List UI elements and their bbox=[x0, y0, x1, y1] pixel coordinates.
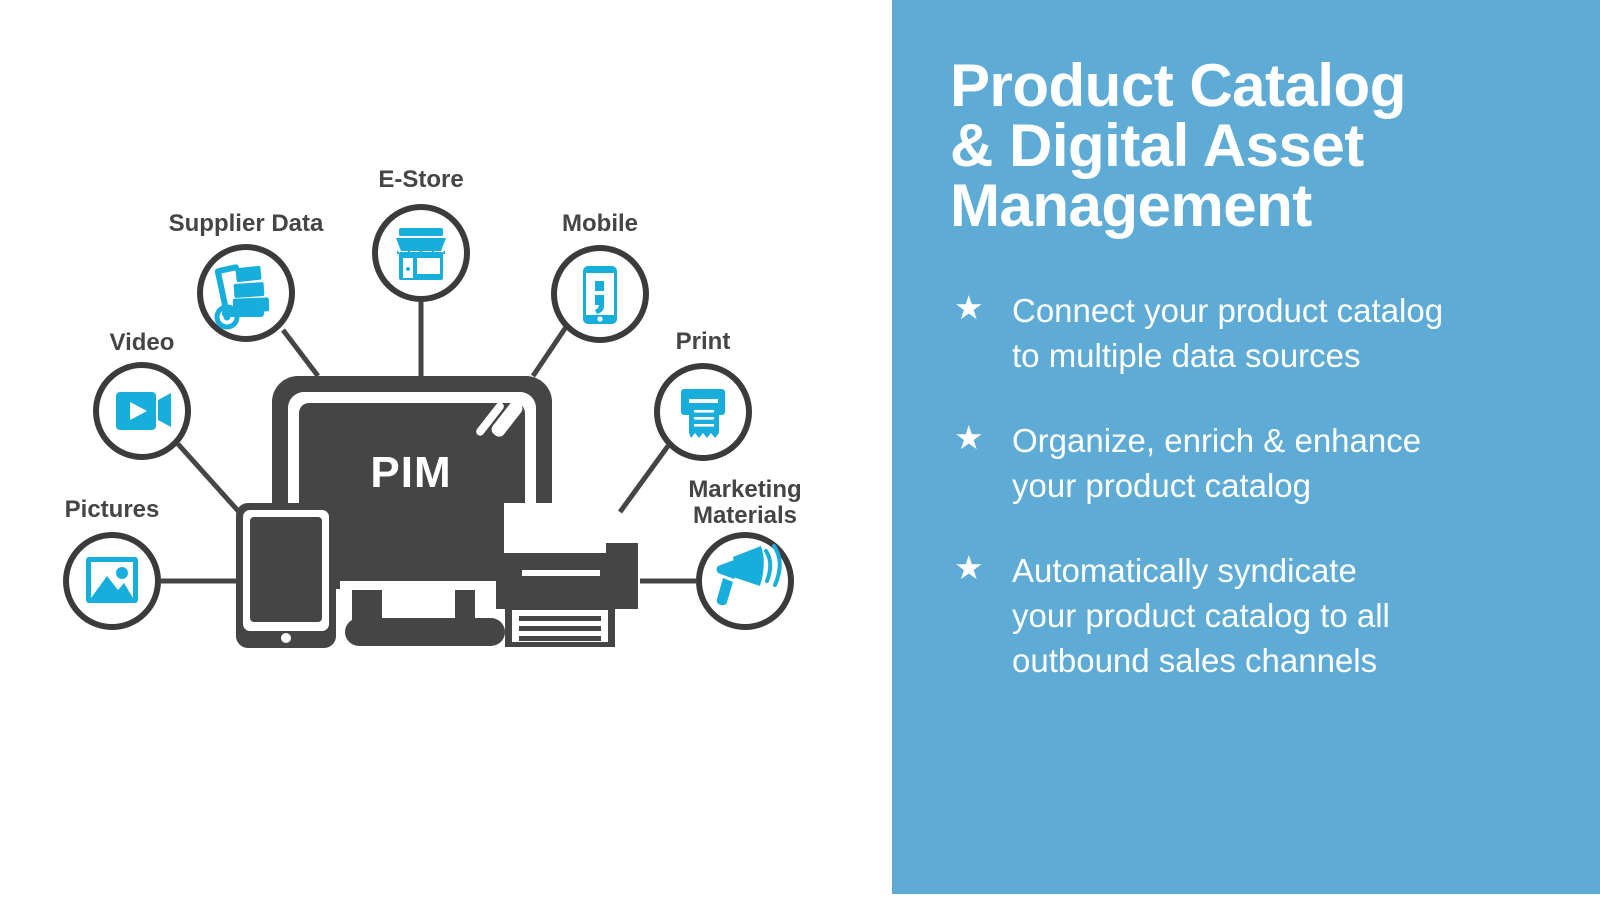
smartphone-icon bbox=[583, 266, 617, 324]
pim-center-label: PIM bbox=[370, 448, 451, 497]
printer-paper-sheet bbox=[504, 503, 612, 559]
node-label-print: Print bbox=[676, 328, 731, 355]
page-title: Product Catalog & Digital Asset Manageme… bbox=[950, 56, 1542, 236]
bullet-text: Automatically syndicate your product cat… bbox=[1012, 548, 1542, 683]
node-e-store[interactable]: E-Store bbox=[375, 166, 467, 299]
node-supplier-data[interactable]: Supplier Data bbox=[169, 210, 324, 339]
node-label-marketing-materials-line2: Materials bbox=[693, 502, 797, 529]
central-device-cluster: PIM bbox=[236, 376, 638, 648]
printer-tray-line-2 bbox=[519, 626, 601, 631]
star-icon: ★ bbox=[950, 418, 1012, 458]
storefront-icon bbox=[396, 228, 446, 280]
monitor-shelf-2 bbox=[345, 560, 510, 580]
printer-side-block bbox=[606, 543, 638, 603]
tablet-screen bbox=[250, 517, 322, 622]
bottom-white-strip bbox=[892, 894, 1600, 900]
printer-slot bbox=[522, 570, 600, 576]
node-label-pictures: Pictures bbox=[65, 496, 160, 523]
printer-tray-line-1 bbox=[519, 616, 601, 621]
bullet-text: Organize, enrich & enhance your product … bbox=[1012, 418, 1542, 508]
connector-supplier-data bbox=[283, 330, 318, 376]
connector-mobile bbox=[533, 327, 566, 376]
tablet-home-button bbox=[281, 633, 291, 643]
pim-diagram-pane: PIM bbox=[0, 0, 892, 900]
node-label-supplier-data: Supplier Data bbox=[169, 210, 324, 237]
connector-video bbox=[178, 444, 240, 513]
node-label-video: Video bbox=[110, 329, 175, 356]
node-pictures[interactable]: Pictures bbox=[65, 496, 160, 627]
bullet-text: Connect your product catalog to multiple… bbox=[1012, 288, 1542, 378]
monitor-base bbox=[345, 618, 505, 646]
list-item: ★ Automatically syndicate your product c… bbox=[950, 548, 1542, 683]
star-icon: ★ bbox=[950, 548, 1012, 588]
node-video[interactable]: Video bbox=[96, 329, 188, 457]
benefits-list: ★ Connect your product catalog to multip… bbox=[950, 288, 1542, 683]
node-label-e-store: E-Store bbox=[378, 166, 463, 193]
node-label-marketing-materials-line1: Marketing bbox=[688, 476, 801, 503]
list-item: ★ Organize, enrich & enhance your produc… bbox=[950, 418, 1542, 508]
node-print[interactable]: Print bbox=[657, 328, 749, 458]
printer-tray-line-3 bbox=[519, 636, 601, 641]
right-blue-panel: Product Catalog & Digital Asset Manageme… bbox=[892, 0, 1600, 894]
node-marketing-materials[interactable]: Marketing Materials bbox=[688, 476, 801, 627]
slide-root: PIM bbox=[0, 0, 1600, 900]
pim-diagram-svg: PIM bbox=[0, 0, 892, 900]
image-icon bbox=[86, 557, 138, 603]
node-mobile[interactable]: Mobile bbox=[554, 210, 646, 340]
connector-print bbox=[620, 446, 668, 512]
node-label-mobile: Mobile bbox=[562, 210, 638, 237]
list-item: ★ Connect your product catalog to multip… bbox=[950, 288, 1542, 378]
star-icon: ★ bbox=[950, 288, 1012, 328]
